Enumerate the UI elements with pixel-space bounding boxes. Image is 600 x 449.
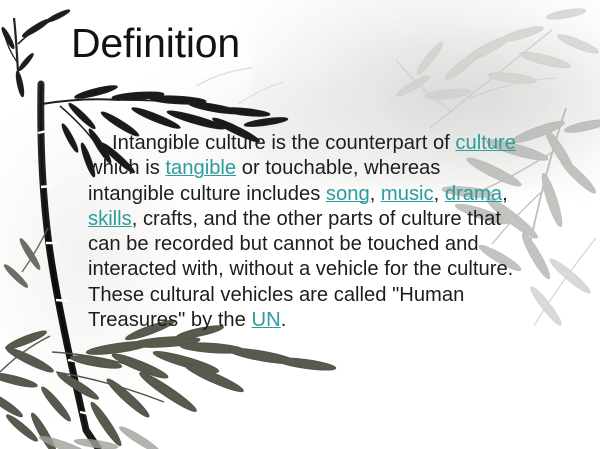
watermark-bamboo-upper-right [395,7,600,128]
body-text-run: , [502,183,508,205]
body-text-run: , crafts, and the other parts of culture… [88,208,513,331]
watermark-strokes-title [196,68,284,104]
body-text-run: which is [88,157,165,179]
body-link-tangible[interactable]: tangible [165,157,236,179]
page-title: Definition [71,18,240,68]
body-text-run: . [281,309,287,331]
body-link-drama[interactable]: drama [445,183,502,205]
bamboo-nodes [38,131,94,415]
body-link-music[interactable]: music [381,183,434,205]
bamboo-branch-middle [3,228,48,289]
body-link-un[interactable]: UN [252,309,281,331]
bamboo-leaves-lower [0,317,336,449]
body-text-run: , [434,183,445,205]
watermark-bamboo-right-lower [528,238,596,327]
body-link-song[interactable]: song [326,183,370,205]
slide: Definition Intangible culture is the cou… [0,0,600,449]
bamboo-leaves-bottom-faint [38,424,162,449]
body-text-run: , [370,183,381,205]
body-link-skills[interactable]: skills [88,208,132,230]
body-link-culture[interactable]: culture [455,132,516,154]
definition-body-text: Intangible culture is the counterpart of… [88,131,520,333]
body-text-run: Intangible culture is the counterpart of [112,132,455,154]
